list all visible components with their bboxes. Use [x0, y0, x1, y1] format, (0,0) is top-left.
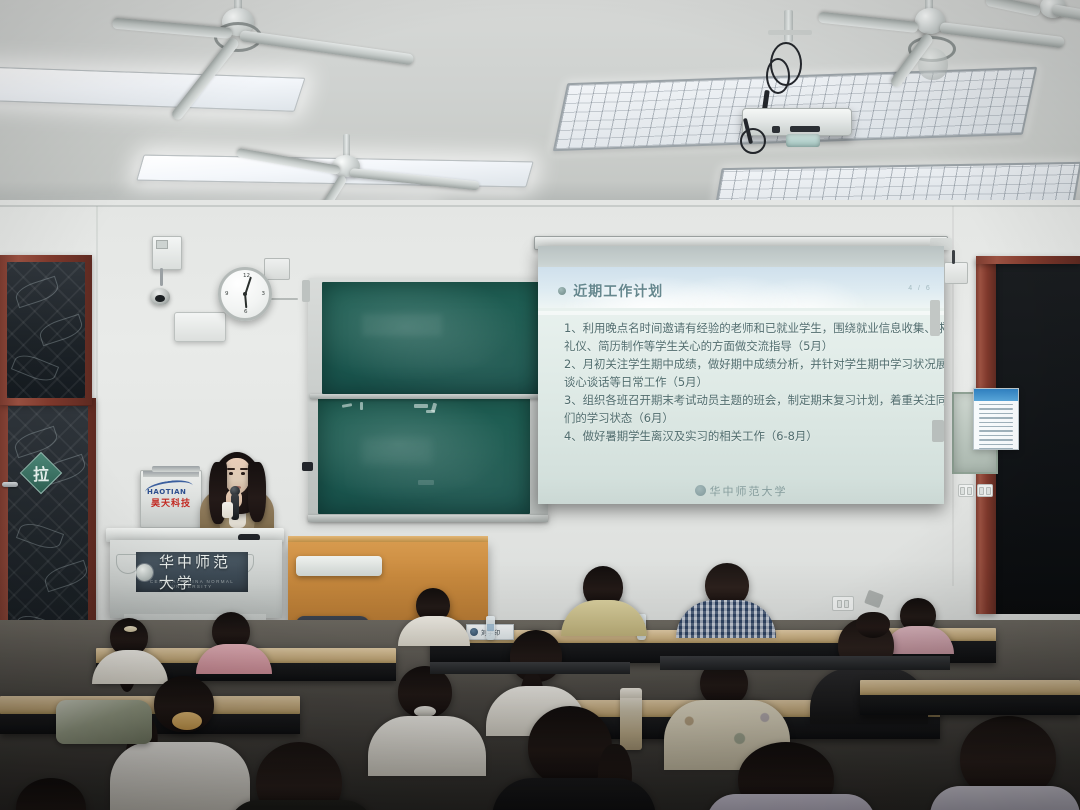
electrical-conduit [160, 268, 163, 286]
presenter-eyebrow [227, 468, 235, 470]
slide-bullet-line: 3、组织各班召开期末考试动员主题的班会，制定期末复习计划，着重关注同学 [564, 392, 928, 409]
wall-bracket [930, 300, 940, 336]
audience-shoulders [706, 794, 876, 810]
desk-item [296, 556, 382, 576]
wall-seam [0, 205, 1080, 207]
slide-bullet-line: 1、利用晚点名时间邀请有经验的老师和已就业学生，围绕就业信息收集、求职 [564, 320, 928, 337]
audience-bun [856, 612, 890, 638]
slide-bullet-line: 谈心谈话等日常工作（5月） [564, 374, 928, 391]
amplifier-lid [152, 466, 200, 472]
desk-jacket [56, 700, 152, 744]
hair-scrunchie [172, 712, 202, 730]
audience-shoulders [930, 786, 1080, 810]
amplifier-brand-latin: HAOTIAN [147, 488, 186, 496]
notice-poster [973, 388, 1019, 450]
chalkboard-panel-upper [322, 282, 542, 394]
device-cable [952, 250, 955, 264]
slide-bullet-line: 2、月初关注学生期中成绩，做好期中成绩分析，并针对学生期中学习状况展开 [564, 356, 928, 373]
classroom-photo: 拉 12 3 6 9 [0, 0, 1080, 810]
podium-university-name-en: CENTRAL CHINA NORMAL UNIVERSITY [136, 579, 248, 589]
wall-speaker [302, 280, 310, 302]
student-desk-front [860, 695, 1080, 715]
water-bottle [486, 616, 495, 640]
security-camera [150, 288, 170, 305]
audience-shoulders [110, 742, 250, 810]
amplifier-unit: HAOTIAN 昊天科技 [140, 470, 202, 528]
slide-title: 近期工作计划 [558, 281, 663, 301]
slide-page-number: 4 / 6 [908, 285, 932, 292]
slide-title-bullet-icon [558, 287, 566, 295]
slide-bullet-line: 礼仪、简历制作等学生关心的方面做交流指导（5月） [564, 338, 928, 355]
slide-divider-band [538, 311, 944, 315]
thermos-bottle [620, 694, 642, 750]
poster-header [974, 389, 1018, 401]
slide-bullet-line: 4、做好暑期学生离汉及实习的相关工作（6-8月） [564, 428, 928, 445]
wall-mounted-panel [264, 258, 290, 280]
audience-shoulders [368, 716, 486, 776]
chalkboard-panel-lower [318, 398, 530, 514]
slide-footer: 华中师范大学 [538, 483, 944, 499]
presenter-eye [229, 472, 233, 475]
presenter-eye [241, 472, 245, 475]
wall-bracket [932, 420, 944, 442]
chalkboard-eraser[interactable] [302, 462, 313, 471]
slide-body: 1、利用晚点名时间邀请有经验的老师和已就业学生，围绕就业信息收集、求职 礼仪、简… [564, 320, 928, 446]
placard-seal-icon [470, 628, 478, 636]
wall-outlet[interactable] [958, 484, 974, 497]
slide-bullet-line: 们的学习状态（6月） [564, 410, 928, 427]
student-desk [860, 680, 1080, 696]
wall-mounted-device [944, 262, 968, 284]
presenter-cuff [222, 502, 233, 518]
slide-title-text: 近期工作计划 [573, 281, 663, 301]
bench-back [660, 656, 950, 670]
bench-back [430, 662, 630, 674]
wall-outlet[interactable] [832, 596, 854, 611]
thermos-cap [620, 688, 642, 698]
projection-screen: 近期工作计划 4 / 6 1、利用晚点名时间邀请有经验的老师和已就业学生，围绕就… [538, 246, 944, 504]
door-handle[interactable] [2, 482, 18, 487]
chalk-tray [308, 515, 548, 522]
university-seal-icon [695, 485, 706, 496]
left-upper-door-glass [7, 262, 85, 398]
wall-outlet[interactable] [977, 484, 993, 497]
presenter-hair-right [248, 462, 266, 522]
chalk-tray [310, 394, 546, 399]
slide-footer-text: 华中师范大学 [710, 483, 788, 499]
door-pull-label: 拉 [33, 461, 49, 485]
wall-seam [96, 206, 98, 626]
poster-body-lines [979, 404, 1013, 445]
chalkboard [308, 278, 548, 520]
audience-shoulders [228, 800, 374, 810]
wall-mounted-panel [174, 312, 226, 342]
audience-shoulders [492, 778, 656, 810]
clock-hour-hand [244, 295, 248, 308]
presentation-slide: 近期工作计划 4 / 6 1、利用晚点名时间邀请有经验的老师和已就业学生，围绕就… [538, 246, 944, 504]
hair-clip [124, 626, 137, 632]
right-door-frame-top [976, 256, 1080, 264]
electrical-box [152, 236, 182, 270]
amplifier-brand-cn: 昊天科技 [151, 496, 191, 509]
electrical-box-label [156, 240, 168, 249]
presenter-eyebrow [240, 468, 248, 470]
wall-clock: 12 3 6 9 [218, 267, 272, 321]
university-seal-icon [136, 564, 153, 581]
